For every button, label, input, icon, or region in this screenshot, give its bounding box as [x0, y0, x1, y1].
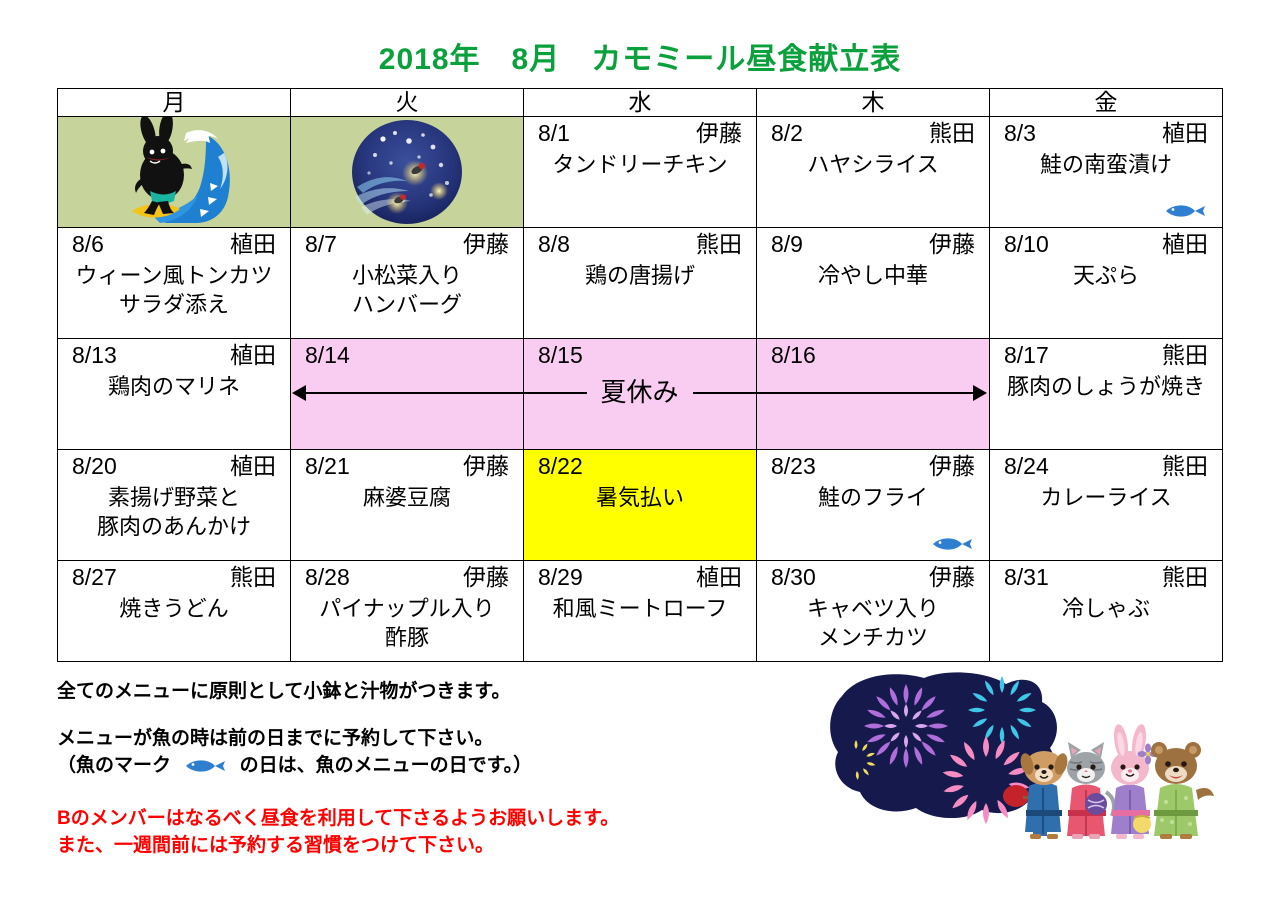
cell-date: 8/14 — [305, 340, 350, 370]
cell-staff: 植田 — [230, 340, 276, 370]
cell-staff: 伊藤 — [929, 562, 975, 592]
cell-menu: 麻婆豆腐 — [291, 481, 523, 512]
day-cell: 8/9 伊藤 冷やし中華 — [757, 228, 990, 339]
day-cell-holiday: 8/15 — [524, 339, 757, 450]
cell-staff: 植田 — [230, 451, 276, 481]
cell-date: 8/30 — [771, 562, 816, 592]
note-line-1: 全てのメニューに原則として小鉢と汁物がつきます。 — [57, 678, 797, 705]
cell-menu: 鮭の南蛮漬け — [990, 148, 1222, 179]
cell-staff: 伊藤 — [929, 229, 975, 259]
cell-menu: 小松菜入り ハンバーグ — [291, 259, 523, 319]
note-line-3-after: の日は、魚のメニューの日です。） — [240, 755, 533, 776]
cell-menu: ハヤシライス — [757, 148, 989, 179]
cell-staff: 伊藤 — [463, 451, 509, 481]
cell-menu: カレーライス — [990, 481, 1222, 512]
cell-staff: 熊田 — [1162, 451, 1208, 481]
cell-menu: 鶏肉のマリネ — [58, 370, 290, 401]
day-cell: 8/8 熊田 鶏の唐揚げ — [524, 228, 757, 339]
cell-date: 8/16 — [771, 340, 816, 370]
cell-staff: 植田 — [1162, 229, 1208, 259]
day-cell: 8/7 伊藤 小松菜入り ハンバーグ — [291, 228, 524, 339]
day-cell: 8/23 伊藤 鮭のフライ — [757, 450, 990, 561]
weekday-header-wed: 水 — [524, 89, 757, 117]
cell-date: 8/9 — [771, 229, 803, 259]
cell-staff: 熊田 — [929, 118, 975, 148]
day-cell: 8/27 熊田 焼きうどん — [58, 561, 291, 662]
cell-staff: 植田 — [696, 562, 742, 592]
note-red-line-2: また、一週間前には予約する習慣をつけて下さい。 — [57, 832, 797, 859]
cell-menu: 鮭のフライ — [757, 481, 989, 512]
weekday-header-row: 月 火 水 木 金 — [58, 89, 1223, 117]
cell-date: 8/2 — [771, 118, 803, 148]
calendar-week-row: 8/6 植田 ウィーン風トンカツ サラダ添え 8/7 伊藤 小松菜入り ハンバー… — [58, 228, 1223, 339]
cell-date: 8/28 — [305, 562, 350, 592]
cell-staff: 熊田 — [1162, 340, 1208, 370]
day-cell-holiday: 8/14 — [291, 339, 524, 450]
day-cell: 8/31 熊田 冷しゃぶ — [990, 561, 1223, 662]
cell-menu: 天ぷら — [990, 259, 1222, 290]
bear-character — [1151, 742, 1214, 839]
day-cell-illustration-firefly — [291, 117, 524, 228]
note-red-line-1: Bのメンバーはなるべく昼食を利用して下さるようお願いします。 — [57, 805, 797, 832]
cell-staff: 伊藤 — [696, 118, 742, 148]
cell-date: 8/23 — [771, 451, 816, 481]
day-cell: 8/30 伊藤 キャベツ入り メンチカツ — [757, 561, 990, 662]
lunch-menu-calendar: 月 火 水 木 金 — [57, 88, 1223, 662]
cell-menu: 冷やし中華 — [757, 259, 989, 290]
cell-menu: 冷しゃぶ — [990, 592, 1222, 623]
day-cell: 8/20 植田 素揚げ野菜と 豚肉のあんかけ — [58, 450, 291, 561]
cell-date: 8/7 — [305, 229, 337, 259]
weekday-header-mon: 月 — [58, 89, 291, 117]
cell-date: 8/29 — [538, 562, 583, 592]
day-cell: 8/3 植田 鮭の南蛮漬け — [990, 117, 1223, 228]
day-cell: 8/10 植田 天ぷら — [990, 228, 1223, 339]
day-cell: 8/6 植田 ウィーン風トンカツ サラダ添え — [58, 228, 291, 339]
cell-date: 8/27 — [72, 562, 117, 592]
cell-staff: 熊田 — [230, 562, 276, 592]
cell-staff: 植田 — [1162, 118, 1208, 148]
cell-menu: 暑気払い — [524, 481, 756, 512]
note-line-2: メニューが魚の時は前の日までに予約して下さい。 — [57, 725, 797, 752]
firefly-night-icon — [291, 117, 523, 227]
note-line-3-before: （魚のマーク — [57, 755, 171, 776]
cell-staff: 熊田 — [696, 229, 742, 259]
weekday-header-thu: 木 — [757, 89, 990, 117]
calendar-week-row: 8/1 伊藤 タンドリーチキン 8/2 熊田 ハヤシライス — [58, 117, 1223, 228]
day-cell: 8/28 伊藤 パイナップル入り 酢豚 — [291, 561, 524, 662]
fish-icon — [1164, 203, 1206, 219]
day-cell: 8/1 伊藤 タンドリーチキン — [524, 117, 757, 228]
day-cell: 8/13 植田 鶏肉のマリネ — [58, 339, 291, 450]
cell-date: 8/21 — [305, 451, 350, 481]
cell-date: 8/22 — [538, 451, 583, 481]
note-block-2: メニューが魚の時は前の日までに予約して下さい。 （魚のマーク の日は、魚のメニュ… — [57, 725, 797, 779]
cell-menu: 豚肉のしょうが焼き — [990, 370, 1222, 401]
day-cell-holiday: 8/16 — [757, 339, 990, 450]
cell-date: 8/31 — [1004, 562, 1049, 592]
cell-date: 8/20 — [72, 451, 117, 481]
calendar-week-row: 8/20 植田 素揚げ野菜と 豚肉のあんかけ 8/21 伊藤 麻婆豆腐 — [58, 450, 1223, 561]
cell-menu: 和風ミートローフ — [524, 592, 756, 623]
cat-character — [1067, 742, 1114, 839]
cell-staff: 伊藤 — [929, 451, 975, 481]
cell-menu: タンドリーチキン — [524, 148, 756, 179]
cell-date: 8/13 — [72, 340, 117, 370]
note-block-1: 全てのメニューに原則として小鉢と汁物がつきます。 — [57, 678, 797, 705]
note-line-3: （魚のマーク の日は、魚のメニューの日です。） — [57, 752, 797, 779]
cell-menu: 鶏の唐揚げ — [524, 259, 756, 290]
notes-section: 全てのメニューに原則として小鉢と汁物がつきます。 メニューが魚の時は前の日までに… — [57, 678, 797, 879]
day-cell: 8/17 熊田 豚肉のしょうが焼き — [990, 339, 1223, 450]
fish-icon — [931, 536, 973, 552]
cell-staff: 植田 — [230, 229, 276, 259]
day-cell: 8/21 伊藤 麻婆豆腐 — [291, 450, 524, 561]
fireworks-and-yukata-animals-icon — [820, 668, 1240, 883]
cell-date: 8/8 — [538, 229, 570, 259]
cell-staff: 伊藤 — [463, 562, 509, 592]
cell-menu: パイナップル入り 酢豚 — [291, 592, 523, 652]
day-cell: 8/2 熊田 ハヤシライス — [757, 117, 990, 228]
cell-menu: ウィーン風トンカツ サラダ添え — [58, 259, 290, 319]
cell-date: 8/17 — [1004, 340, 1049, 370]
cell-menu: 素揚げ野菜と 豚肉のあんかけ — [58, 481, 290, 541]
cell-date: 8/1 — [538, 118, 570, 148]
surfing-rabbit-icon — [58, 117, 290, 227]
cell-date: 8/6 — [72, 229, 104, 259]
cell-staff: 熊田 — [1162, 562, 1208, 592]
cell-menu: キャベツ入り メンチカツ — [757, 592, 989, 652]
page-title: 2018年 8月 カモミール昼食献立表 — [379, 34, 901, 78]
cell-date: 8/15 — [538, 340, 583, 370]
day-cell: 8/29 植田 和風ミートローフ — [524, 561, 757, 662]
cell-menu: 焼きうどん — [58, 592, 290, 623]
cell-date: 8/3 — [1004, 118, 1036, 148]
title-bar: 2018年 8月 カモミール昼食献立表 — [0, 34, 1280, 78]
note-block-red: Bのメンバーはなるべく昼食を利用して下さるようお願いします。 また、一週間前には… — [57, 805, 797, 859]
cell-date: 8/10 — [1004, 229, 1049, 259]
calendar-week-row: 8/27 熊田 焼きうどん 8/28 伊藤 パイナップル入り 酢豚 — [58, 561, 1223, 662]
day-cell-illustration-rabbit — [58, 117, 291, 228]
calendar-week-row: 8/13 植田 鶏肉のマリネ 8/14 8/15 — [58, 339, 1223, 450]
fish-icon — [184, 758, 226, 774]
day-cell: 8/24 熊田 カレーライス — [990, 450, 1223, 561]
cell-date: 8/24 — [1004, 451, 1049, 481]
day-cell-event: 8/22 暑気払い — [524, 450, 757, 561]
cell-staff: 伊藤 — [463, 229, 509, 259]
weekday-header-tue: 火 — [291, 89, 524, 117]
weekday-header-fri: 金 — [990, 89, 1223, 117]
rabbit-character — [1111, 723, 1159, 839]
